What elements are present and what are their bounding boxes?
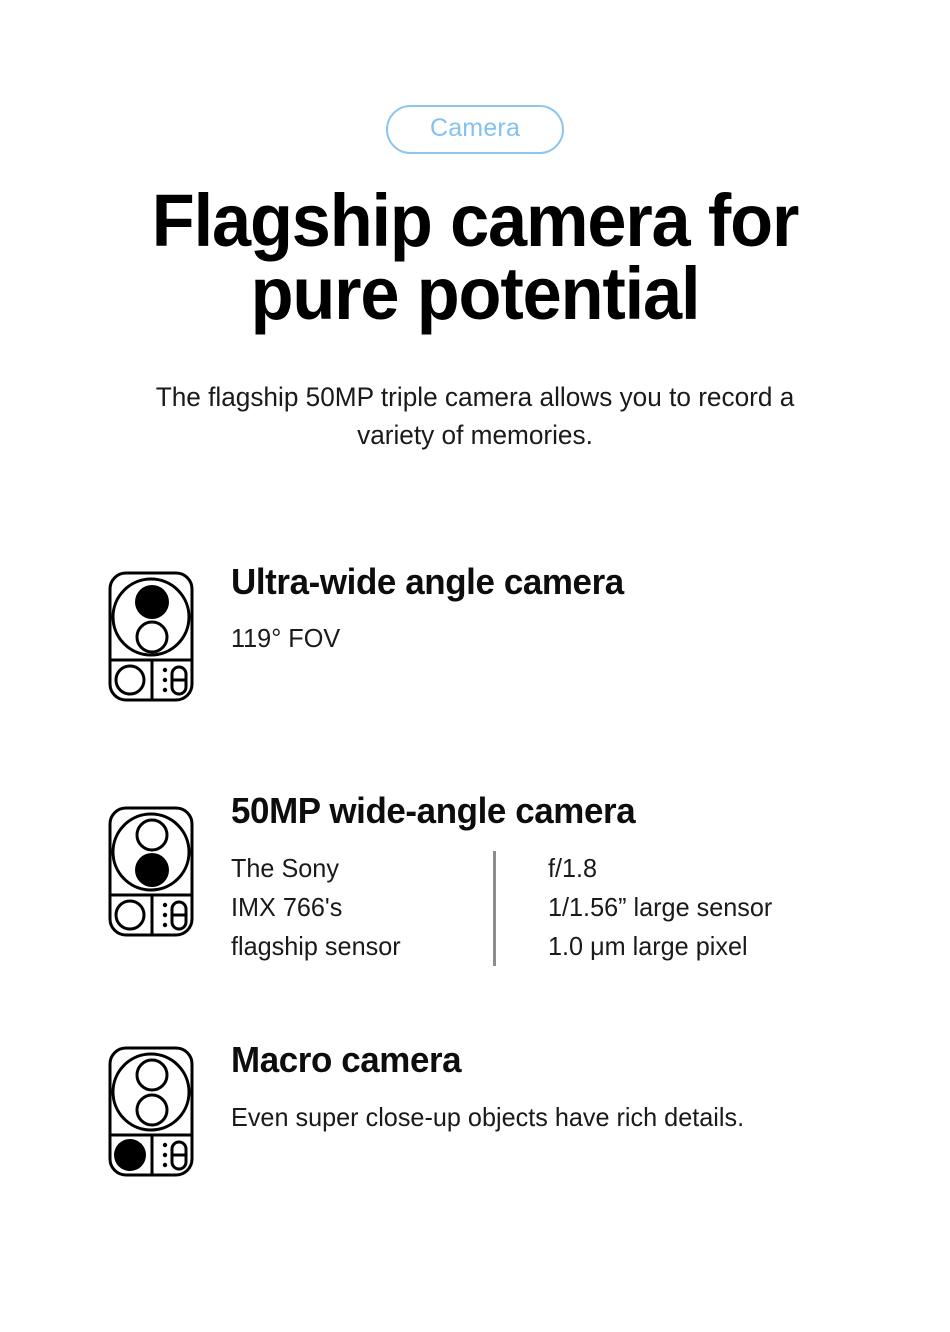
spec-line: 1.0 μm large pixel <box>548 927 938 966</box>
page-subtitle-line-1: The flagship 50MP triple camera allows y… <box>92 378 858 416</box>
category-badge-camera[interactable]: Camera <box>386 105 564 154</box>
camera-module-ultrawide-icon <box>108 571 194 702</box>
spec-line: 1/1.56” large sensor <box>548 888 938 927</box>
page-subtitle: The flagship 50MP triple camera allows y… <box>92 378 858 455</box>
spec-line: flagship sensor <box>231 927 485 966</box>
feature-subtext: Even super close-up objects have rich de… <box>231 1101 928 1135</box>
page-title-line-1: Flagship camera for <box>100 185 851 258</box>
badge-row: Camera <box>0 0 950 154</box>
spec-line: IMX 766's <box>231 888 485 927</box>
feature-item-ultra-wide: Ultra-wide angle camera 119° FOV <box>108 563 950 702</box>
page-title-line-2: pure potential <box>100 258 851 331</box>
camera-module-macro-icon <box>108 1046 194 1177</box>
feature-title: Macro camera <box>231 1041 928 1079</box>
camera-module-wideangle-icon <box>108 806 194 937</box>
feature-body: Ultra-wide angle camera 119° FOV <box>231 563 950 657</box>
spec-line: The Sony <box>231 849 485 888</box>
feature-title: Ultra-wide angle camera <box>231 563 928 601</box>
spec-column-right: f/1.8 1/1.56” large sensor 1.0 μm large … <box>548 849 938 966</box>
spec-columns: The Sony IMX 766's flagship sensor f/1.8… <box>231 849 950 966</box>
feature-body: 50MP wide-angle camera The Sony IMX 766'… <box>231 792 950 967</box>
spec-line: f/1.8 <box>548 849 938 888</box>
page-title: Flagship camera for pure potential <box>100 185 851 330</box>
feature-item-wide-angle: 50MP wide-angle camera The Sony IMX 766'… <box>108 792 950 967</box>
spec-divider <box>493 851 496 966</box>
feature-body: Macro camera Even super close-up objects… <box>231 1041 950 1135</box>
feature-list: Ultra-wide angle camera 119° FOV 50M <box>0 563 950 1178</box>
page-subtitle-line-2: variety of memories. <box>92 416 858 454</box>
feature-title: 50MP wide-angle camera <box>231 792 928 830</box>
spec-column-left: The Sony IMX 766's flagship sensor <box>231 849 485 966</box>
feature-item-macro: Macro camera Even super close-up objects… <box>108 1041 950 1177</box>
feature-subtext: 119° FOV <box>231 622 928 656</box>
